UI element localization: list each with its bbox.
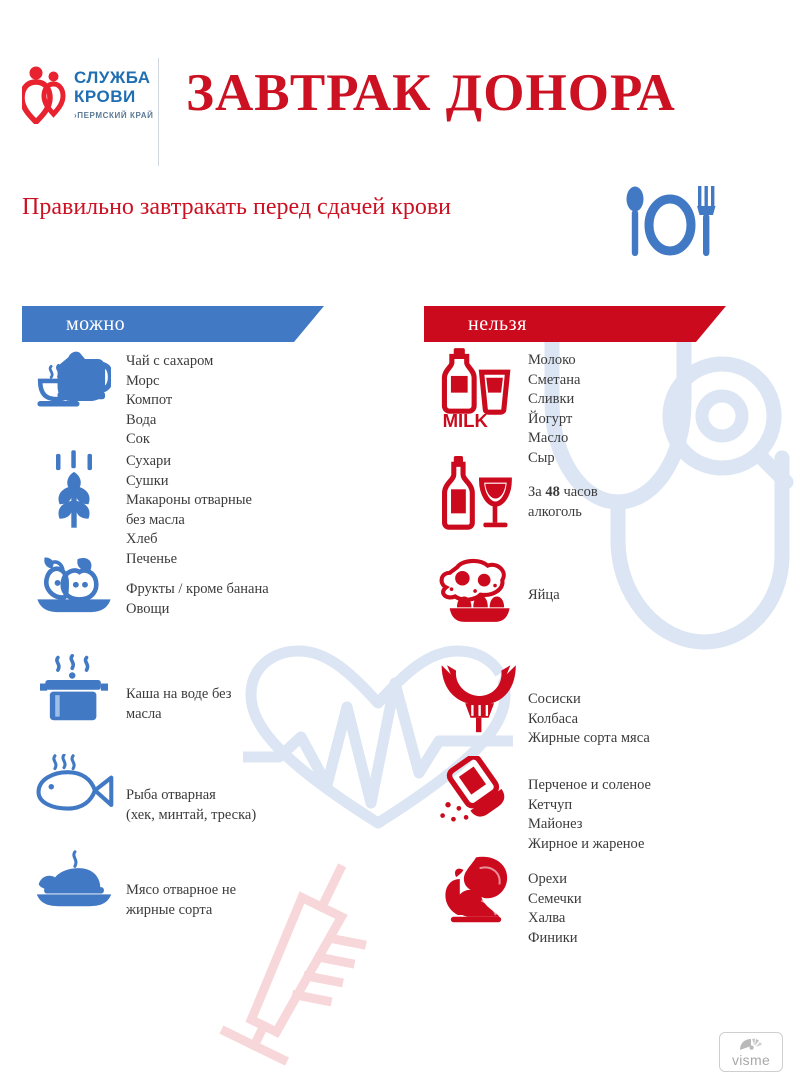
- logo-line-1: СЛУЖБА: [74, 68, 153, 87]
- blood-service-logo: СЛУЖБА КРОВИ ›ПЕРМСКИЙ КРАЙ: [22, 62, 154, 140]
- fried-eggs-icon: [424, 556, 528, 626]
- text-line: Сухари: [126, 452, 394, 472]
- list-item-text: Перченое и соленое Кетчуп Майонез Жирное…: [528, 756, 796, 854]
- text-line: Мясо отварное не: [126, 881, 394, 901]
- list-item: Сухари Сушки Макароны отварные без масла…: [22, 448, 394, 550]
- text-line: Орехи: [528, 870, 796, 890]
- text-line: Сосиски: [528, 690, 796, 710]
- milk-icon-label: MILK: [443, 410, 489, 428]
- roast-meat-platter-icon: [22, 850, 126, 908]
- list-item: Орехи Семечки Халва Финики: [424, 852, 796, 948]
- fish-icon: [22, 754, 126, 814]
- wine-bottle-glass-icon: [424, 456, 528, 530]
- list-item-text: Чай с сахаром Морс Компот Вода Сок: [126, 348, 394, 450]
- text-line: Фрукты / кроме банана: [126, 580, 394, 600]
- text-line: Сушки: [126, 472, 394, 492]
- text-line: Хлеб: [126, 530, 394, 550]
- text-line: Вода: [126, 411, 394, 431]
- list-item-text: Сосиски Колбаса Жирные сорта мяса: [528, 658, 796, 749]
- text-line: Макароны отварные: [126, 491, 394, 511]
- visme-label: visme: [732, 1053, 770, 1067]
- list-item-text: Молоко Сметана Сливки Йогурт Масло Сыр: [528, 348, 796, 468]
- salt-shaker-icon: [424, 756, 528, 830]
- text-line: Морс: [126, 372, 394, 392]
- text-line: Сливки: [528, 390, 796, 410]
- milk-bottle-glass-icon: MILK: [424, 348, 528, 428]
- list-item: MILK Молоко Сметана Сливки Йогурт Масло …: [424, 348, 796, 456]
- banner-forbidden: нельзя: [424, 306, 726, 342]
- text-line: Сметана: [528, 371, 796, 391]
- list-item: Чай с сахаром Морс Компот Вода Сок: [22, 348, 394, 448]
- list-item: За 48 часов алкоголь: [424, 456, 796, 556]
- logo-region: ›ПЕРМСКИЙ КРАЙ: [74, 111, 153, 120]
- text-line: (хек, минтай, треска): [126, 806, 394, 826]
- text-line: Сок: [126, 430, 394, 450]
- forbidden-list: MILK Молоко Сметана Сливки Йогурт Масло …: [424, 348, 796, 948]
- text-line: Компот: [126, 391, 394, 411]
- list-item: Каша на воде без масла: [22, 654, 394, 754]
- text-line: Йогурт: [528, 410, 796, 430]
- list-item: Яйца: [424, 556, 796, 658]
- wheat-ear-icon: [22, 448, 126, 530]
- text-line: Кетчуп: [528, 796, 796, 816]
- list-item: Рыба отварная (хек, минтай, треска): [22, 754, 394, 850]
- text-line: Яйца: [528, 586, 796, 606]
- list-item: Фрукты / кроме банана Овощи: [22, 550, 394, 654]
- text-line: Каша на воде без: [126, 685, 394, 705]
- list-item-text: Фрукты / кроме банана Овощи: [126, 550, 394, 619]
- logo-line-2: КРОВИ: [74, 87, 153, 106]
- text-line: Овощи: [126, 600, 394, 620]
- list-item-text: Яйца: [528, 556, 796, 606]
- list-item-text: Мясо отварное не жирные сорта: [126, 850, 394, 920]
- infographic-page: СЛУЖБА КРОВИ ›ПЕРМСКИЙ КРАЙ ЗАВТРАК ДОНО…: [0, 0, 800, 1086]
- banner-allowed: можно: [22, 306, 324, 342]
- banner-forbidden-label: нельзя: [468, 306, 527, 342]
- text-line: Рыба отварная: [126, 786, 394, 806]
- list-item-text: Орехи Семечки Халва Финики: [528, 852, 796, 948]
- list-item: Мясо отварное не жирные сорта: [22, 850, 394, 946]
- teapot-cup-icon: [22, 348, 126, 412]
- text-line: Перченое и соленое: [528, 776, 796, 796]
- text-line: За 48 часов: [528, 483, 796, 503]
- visme-logo-icon: [738, 1038, 764, 1052]
- sausage-fork-icon: [424, 658, 528, 734]
- squirrel-icon: [424, 852, 528, 924]
- list-item: Перченое и соленое Кетчуп Майонез Жирное…: [424, 756, 796, 852]
- text-line: Халва: [528, 909, 796, 929]
- header-divider: [158, 58, 159, 166]
- logo-wordmark: СЛУЖБА КРОВИ ›ПЕРМСКИЙ КРАЙ: [74, 68, 153, 120]
- text-line: жирные сорта: [126, 901, 394, 921]
- allowed-list: Чай с сахаром Морс Компот Вода Сок: [22, 348, 394, 946]
- cooking-pot-icon: [22, 654, 126, 722]
- visme-watermark[interactable]: visme: [719, 1032, 783, 1072]
- text-line: Жирные сорта мяса: [528, 729, 796, 749]
- list-item: Сосиски Колбаса Жирные сорта мяса: [424, 658, 796, 756]
- list-item-text: Рыба отварная (хек, минтай, треска): [126, 754, 394, 825]
- text-line: Майонез: [528, 815, 796, 835]
- page-subtitle: Правильно завтракать перед сдачей крови: [22, 192, 451, 222]
- text-line: Семечки: [528, 890, 796, 910]
- text-line: алкоголь: [528, 503, 796, 523]
- text-line: Финики: [528, 929, 796, 949]
- text-line: без масла: [126, 511, 394, 531]
- blood-service-logo-mark: [22, 66, 68, 124]
- text-line: Колбаса: [528, 710, 796, 730]
- text-line: Масло: [528, 429, 796, 449]
- text-line: Чай с сахаром: [126, 352, 394, 372]
- banner-allowed-label: можно: [66, 306, 125, 342]
- page-title: ЗАВТРАК ДОНОРА: [186, 63, 746, 123]
- text-line: масла: [126, 705, 394, 725]
- fruit-bowl-icon: [22, 550, 126, 614]
- text-line: Молоко: [528, 351, 796, 371]
- plate-fork-spoon-icon: [622, 182, 718, 264]
- list-item-text: За 48 часов алкоголь: [528, 456, 796, 522]
- list-item-text: Каша на воде без масла: [126, 654, 394, 724]
- page-header: СЛУЖБА КРОВИ ›ПЕРМСКИЙ КРАЙ ЗАВТРАК ДОНО…: [0, 0, 800, 175]
